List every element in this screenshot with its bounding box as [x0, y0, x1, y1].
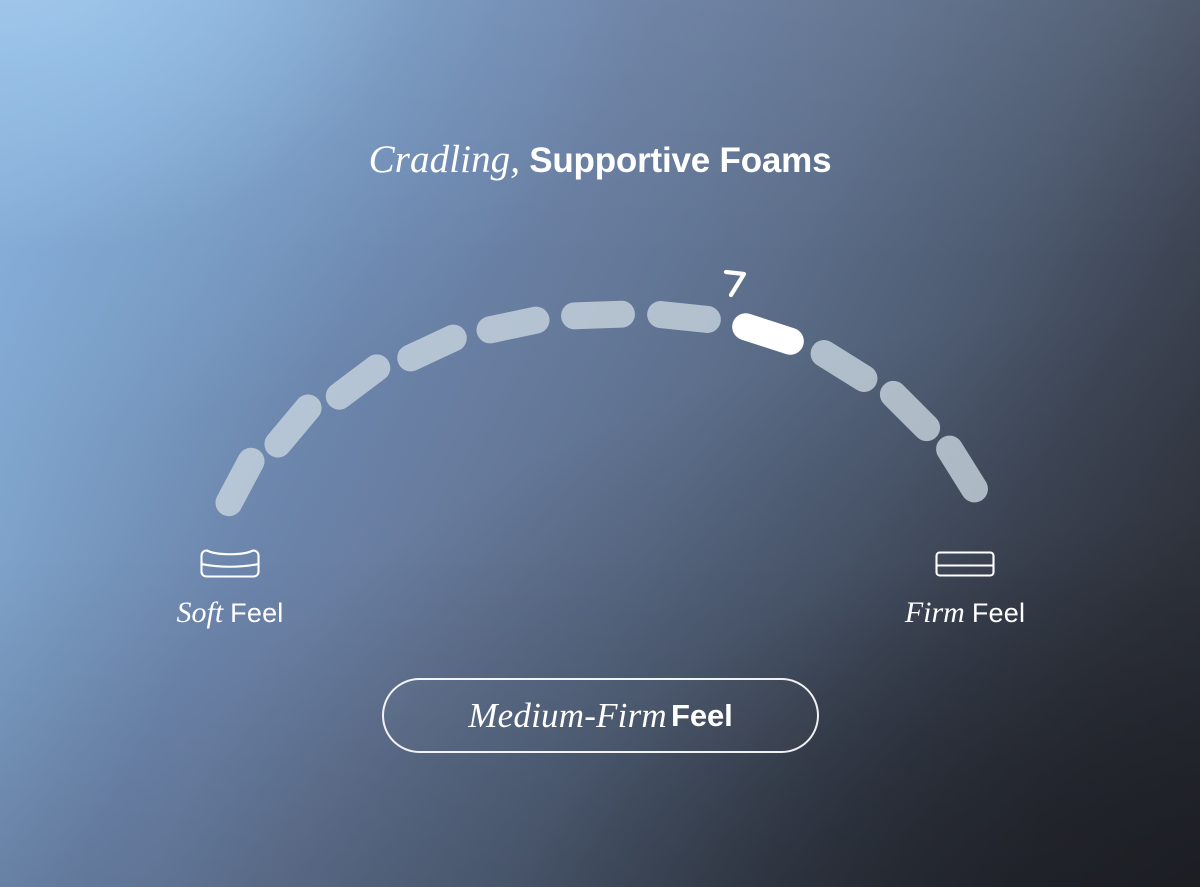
- page-title-bold: Supportive Foams: [529, 141, 831, 180]
- page-title: Cradling,Supportive Foams: [0, 139, 1200, 182]
- firm-icon-wrap: [835, 543, 1095, 583]
- firm-mattress-icon: [934, 546, 996, 580]
- gauge-segment[interactable]: [561, 300, 636, 330]
- gauge-segment[interactable]: [259, 389, 327, 463]
- soft-label-italic: Soft: [176, 596, 223, 629]
- gauge-segment[interactable]: [805, 335, 882, 397]
- active-value-marker: [722, 268, 752, 302]
- endpoint-firm: FirmFeel: [835, 543, 1095, 630]
- caret-marker-icon: [722, 268, 752, 302]
- firmness-arc-gauge: [180, 258, 1020, 548]
- gauge-segment-active[interactable]: [729, 310, 808, 359]
- page-title-italic: Cradling,: [369, 138, 521, 181]
- gauge-segment[interactable]: [874, 375, 945, 446]
- result-italic: Medium-Firm: [468, 696, 667, 736]
- gauge-segment[interactable]: [646, 300, 722, 335]
- gauge-segment[interactable]: [474, 304, 552, 346]
- soft-mattress-icon: [199, 546, 261, 580]
- gauge-segment[interactable]: [211, 443, 270, 521]
- result-pill[interactable]: Medium-FirmFeel: [382, 678, 819, 753]
- gauge-segment[interactable]: [320, 349, 395, 415]
- gauge-segment[interactable]: [931, 430, 993, 507]
- soft-icon-wrap: [100, 543, 360, 583]
- gauge-segment-group: [211, 300, 993, 521]
- firm-label-regular: Feel: [972, 598, 1025, 628]
- endpoint-soft: SoftFeel: [100, 543, 360, 630]
- firmness-gauge-panel: Cradling,Supportive Foams SoftFeel: [0, 0, 1200, 887]
- result-bold: Feel: [671, 698, 733, 734]
- soft-label: SoftFeel: [100, 596, 360, 630]
- gauge-segment[interactable]: [393, 320, 471, 376]
- firm-label: FirmFeel: [835, 596, 1095, 630]
- soft-label-regular: Feel: [230, 598, 283, 628]
- firm-label-italic: Firm: [905, 596, 965, 629]
- gauge-svg: [180, 258, 1020, 548]
